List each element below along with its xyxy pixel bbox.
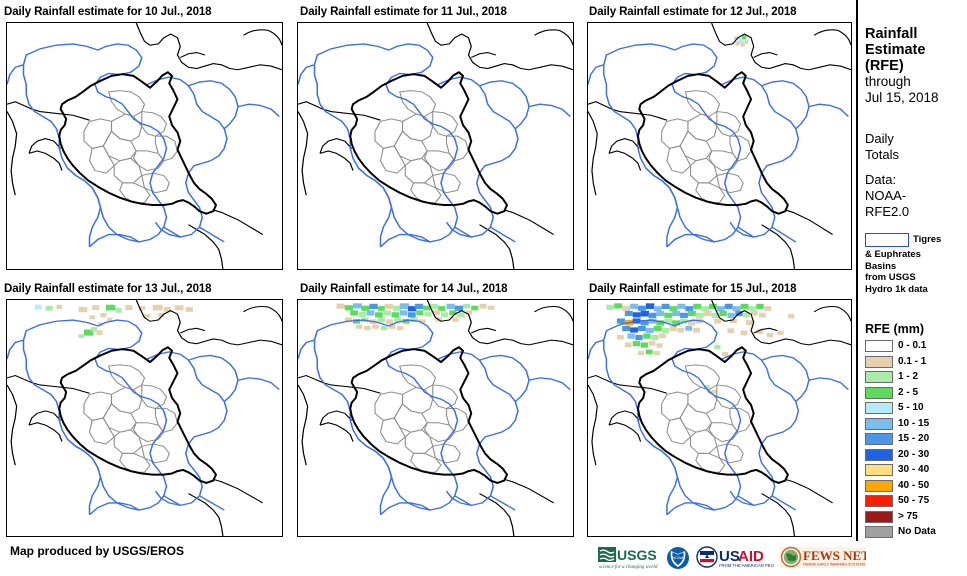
iraq-boundary: [350, 347, 507, 483]
legend-color-swatch: [865, 371, 893, 383]
basin-legend-row: Tigres: [865, 232, 967, 249]
rainfall-map: [298, 23, 573, 269]
panel-title: Daily Rainfall estimate for 12 Jul., 201…: [589, 6, 796, 19]
data-source-line-3: RFE2.0: [865, 204, 967, 220]
legend-row: 0 - 0.1: [865, 339, 967, 355]
basin-outlines: [588, 44, 848, 247]
legend-color-swatch: [865, 464, 893, 476]
legend-row: 40 - 50: [865, 479, 967, 495]
legend-class-label: 0.1 - 1: [898, 356, 926, 368]
legend-row: 50 - 75: [865, 494, 967, 510]
legend-row: 5 - 10: [865, 401, 967, 417]
map-canvas[interactable]: [6, 22, 283, 270]
legend-row: 10 - 15: [865, 417, 967, 433]
legend-row: 15 - 20: [865, 432, 967, 448]
usaid-logo: US AID FROM THE AMERICAN PEOPLE: [696, 545, 774, 571]
legend-class-list: 0 - 0.10.1 - 11 - 22 - 55 - 1010 - 1515 …: [865, 339, 967, 541]
svg-text:FAMINE EARLY WARNING SYSTEMS N: FAMINE EARLY WARNING SYSTEMS NETWORK: [803, 563, 866, 567]
iraq-boundary: [59, 347, 216, 483]
svg-text:science for a changing world: science for a changing world: [599, 565, 658, 570]
legend-class-label: 15 - 20: [898, 433, 929, 445]
legend-color-swatch: [865, 449, 893, 461]
legend-row: No Data: [865, 525, 967, 541]
basin-outlines: [7, 44, 279, 247]
legend-color-swatch: [865, 495, 893, 507]
iraq-boundary: [350, 72, 507, 213]
legend-row: 0.1 - 1: [865, 355, 967, 371]
map-canvas[interactable]: [297, 299, 574, 537]
legend-color-swatch: [865, 433, 893, 445]
legend-row: 20 - 30: [865, 448, 967, 464]
rainfall-cells: [734, 35, 748, 46]
sidebar-divider: [856, 0, 858, 541]
panel-title: Daily Rainfall estimate for 15 Jul., 201…: [589, 283, 796, 296]
panel-title: Daily Rainfall estimate for 10 Jul., 201…: [4, 6, 211, 19]
map-canvas[interactable]: [297, 22, 574, 270]
legend-class-label: 40 - 50: [898, 480, 929, 492]
legend-color-swatch: [865, 387, 893, 399]
legend-class-label: 20 - 30: [898, 449, 929, 461]
legend-class-label: 5 - 10: [898, 402, 924, 414]
basin-outlines: [7, 320, 279, 515]
country-borders: [588, 23, 851, 269]
legend-title: RFE (mm): [865, 322, 967, 336]
map-canvas[interactable]: [6, 299, 283, 537]
data-source-line-1: Data:: [865, 172, 967, 188]
rfe-title-line-2: Estimate: [865, 42, 967, 58]
rfe-title-line-1: Rainfall: [865, 26, 967, 42]
legend-sidebar: Rainfall Estimate (RFE) through Jul 15, …: [856, 0, 967, 576]
legend-class-label: 50 - 75: [898, 495, 929, 507]
country-borders: [7, 300, 282, 536]
legend-row: > 75: [865, 510, 967, 526]
rainfall-map: [7, 23, 282, 269]
iraq-boundary: [638, 72, 788, 213]
basin-outlines: [298, 320, 570, 515]
svg-text:NOAA: NOAA: [672, 555, 684, 560]
svg-text:USGS: USGS: [617, 547, 657, 563]
svg-text:FROM THE AMERICAN PEOPLE: FROM THE AMERICAN PEOPLE: [719, 563, 774, 568]
rainfall-map: [588, 300, 851, 536]
legend-class-label: 1 - 2: [898, 371, 918, 383]
map-canvas[interactable]: [587, 299, 852, 537]
rainfall-map: [588, 23, 851, 269]
usgs-logo: USGS science for a changing world: [598, 545, 660, 571]
totals-line-2: Totals: [865, 147, 967, 163]
fews-net-logo: FEWS NET FAMINE EARLY WARNING SYSTEMS NE…: [780, 545, 866, 571]
panel-title: Daily Rainfall estimate for 13 Jul., 201…: [4, 283, 211, 296]
basin-line-4: from USGS: [865, 272, 967, 284]
legend-class-label: > 75: [898, 511, 918, 523]
totals-line-1: Daily: [865, 131, 967, 147]
legend-row: 2 - 5: [865, 386, 967, 402]
rfe-title-line-3: (RFE): [865, 58, 967, 74]
basin-line-3: Basins: [865, 261, 967, 273]
rfe-through-label: through: [865, 74, 967, 90]
map-credit: Map produced by USGS/EROS: [10, 544, 184, 558]
data-source-line-2: NOAA-: [865, 188, 967, 204]
legend-color-swatch: [865, 340, 893, 352]
panel-title: Daily Rainfall estimate for 14 Jul., 201…: [300, 283, 507, 296]
legend-row: 1 - 2: [865, 370, 967, 386]
legend-color-swatch: [865, 480, 893, 492]
basin-label: Tigres: [913, 234, 941, 245]
basin-outline-swatch: [865, 233, 909, 247]
legend-color-swatch: [865, 402, 893, 414]
legend-color-swatch: [865, 511, 893, 523]
legend-class-label: 2 - 5: [898, 387, 918, 399]
country-borders: [298, 300, 573, 536]
country-borders: [298, 23, 573, 269]
iraq-boundary: [59, 72, 216, 213]
legend-class-label: No Data: [898, 526, 936, 538]
rainfall-map: [7, 300, 282, 536]
rainfall-map: [298, 300, 573, 536]
iraq-boundary: [638, 347, 788, 483]
basin-outlines: [298, 44, 570, 247]
legend-class-label: 10 - 15: [898, 418, 929, 430]
agency-logo-strip: USGS science for a changing world NOAA U…: [598, 542, 866, 574]
legend-color-swatch: [865, 526, 893, 538]
basin-outlines: [588, 320, 848, 515]
legend-class-label: 30 - 40: [898, 464, 929, 476]
legend-color-swatch: [865, 356, 893, 368]
svg-text:FEWS NET: FEWS NET: [803, 548, 866, 563]
panel-title: Daily Rainfall estimate for 11 Jul., 201…: [300, 6, 507, 19]
map-canvas[interactable]: [587, 22, 852, 270]
legend-class-label: 0 - 0.1: [898, 340, 926, 352]
legend-color-swatch: [865, 418, 893, 430]
basin-line-5: Hydro 1k data: [865, 284, 967, 296]
rfe-through-date: Jul 15, 2018: [865, 90, 967, 106]
rainfall-cells: [337, 303, 495, 330]
noaa-logo: NOAA: [666, 545, 690, 571]
country-borders: [7, 23, 282, 269]
basin-line-2: & Euphrates: [865, 249, 967, 261]
legend-row: 30 - 40: [865, 463, 967, 479]
